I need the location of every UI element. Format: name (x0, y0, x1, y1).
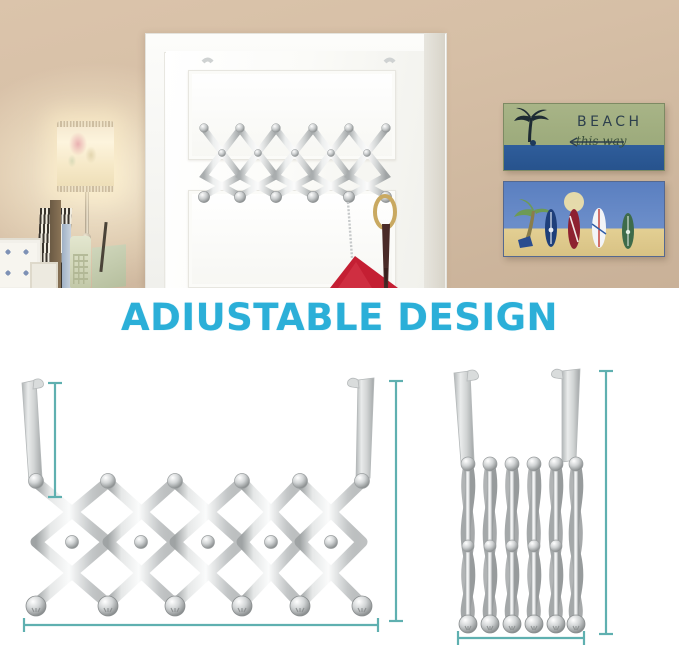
dimension-5in (48, 383, 62, 497)
wall-art-surfboards (503, 181, 665, 257)
lifestyle-photo: BEACH this way (0, 0, 679, 288)
wall-art-beach-sign: BEACH this way (503, 103, 665, 171)
surfboard-navy (545, 209, 557, 247)
hook-arm-right (552, 369, 581, 462)
dimension-22in (24, 618, 378, 632)
dimension-7-48in (389, 381, 403, 621)
accordion-bottom-hooks (459, 615, 585, 633)
surfboard-white (592, 208, 606, 248)
surfboards-graphic (504, 182, 664, 256)
beach-chair (518, 236, 533, 248)
expanded-rack-diagram (0, 350, 410, 667)
palm-tree-icon (514, 108, 549, 142)
beach-sign-graphic: BEACH this way (504, 104, 664, 170)
accordion-bottom-hooks (26, 596, 372, 616)
dimension-10in (599, 371, 613, 634)
handbag-chain (348, 202, 352, 258)
beach-sign-line2: this way (576, 134, 627, 148)
page-title: ADIUSTABLE DESIGN (0, 296, 679, 339)
palm-coconut-icon (530, 140, 536, 146)
photo-accordion-hooks (198, 191, 391, 202)
dimension-4-72in (458, 631, 584, 645)
product-infographic: BEACH this way (0, 0, 679, 667)
accordion-top-rivets (29, 474, 370, 489)
surfboard-green (622, 213, 634, 249)
hook-arm-left (454, 370, 479, 463)
hook-arm-left (22, 379, 44, 482)
beach-sign-line1: BEACH (577, 114, 643, 130)
accordion-lattice (36, 482, 362, 604)
accordion-hook-notches (32, 608, 366, 612)
accordion-mid-rivets (462, 540, 562, 552)
dimension-diagrams: 5in 7.48in 22in (0, 350, 679, 667)
collapsed-rack-diagram (410, 350, 679, 667)
hook-arm-right (348, 378, 375, 480)
photo-accordion-lattice (204, 129, 386, 196)
surfboard-red (568, 209, 580, 249)
